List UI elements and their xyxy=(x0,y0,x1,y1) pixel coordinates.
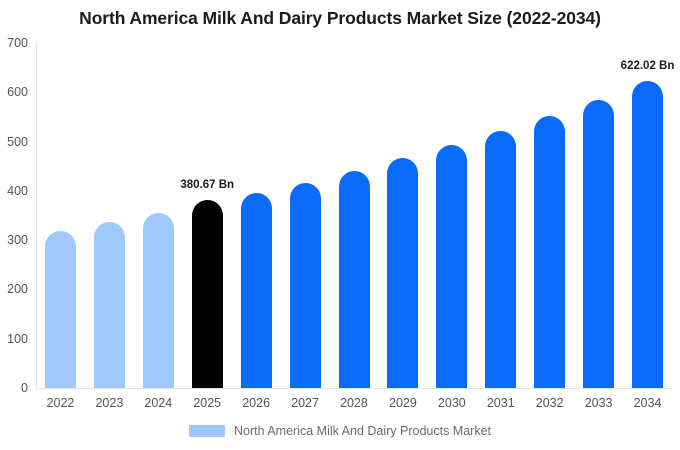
y-axis-tick-label: 100 xyxy=(7,332,36,346)
bar-series: 380.67 Bn622.02 Bn xyxy=(36,43,672,388)
x-axis-tick-2023: 2023 xyxy=(85,396,134,410)
bar-2025[interactable] xyxy=(192,200,223,388)
y-axis-tick-label: 200 xyxy=(7,282,36,296)
bar-group[interactable] xyxy=(583,43,614,388)
x-axis-tick-2032: 2032 xyxy=(525,396,574,410)
bar-group[interactable] xyxy=(45,43,76,388)
x-axis-tick-2026: 2026 xyxy=(232,396,281,410)
bar-2032[interactable] xyxy=(534,116,565,388)
legend-label: North America Milk And Dairy Products Ma… xyxy=(234,424,491,438)
x-axis-line xyxy=(36,388,672,389)
bar-2033[interactable] xyxy=(583,100,614,388)
bar-group[interactable]: 622.02 Bn xyxy=(632,43,663,388)
x-axis-tick-2031: 2031 xyxy=(476,396,525,410)
x-axis-tick-2024: 2024 xyxy=(134,396,183,410)
bar-value-label-2034: 622.02 Bn xyxy=(621,60,675,72)
bar-2026[interactable] xyxy=(241,193,272,388)
y-axis-tick-label: 700 xyxy=(7,36,36,50)
y-axis-tick-label: 0 xyxy=(21,381,36,395)
bar-group[interactable] xyxy=(241,43,272,388)
plot-area: 0100200300400500600700 380.67 Bn622.02 B… xyxy=(36,43,672,388)
bar-2030[interactable] xyxy=(436,145,467,388)
x-axis-tick-2022: 2022 xyxy=(36,396,85,410)
chart-title: North America Milk And Dairy Products Ma… xyxy=(0,8,680,29)
x-axis-tick-2034: 2034 xyxy=(623,396,672,410)
chart-container: North America Milk And Dairy Products Ma… xyxy=(0,0,680,450)
bar-group[interactable] xyxy=(143,43,174,388)
bar-2028[interactable] xyxy=(339,171,370,388)
bar-2027[interactable] xyxy=(290,183,321,388)
bar-2022[interactable] xyxy=(45,231,76,388)
bar-2024[interactable] xyxy=(143,213,174,388)
x-axis-tick-2025: 2025 xyxy=(183,396,232,410)
x-axis-tick-2033: 2033 xyxy=(574,396,623,410)
bar-group[interactable] xyxy=(534,43,565,388)
y-axis-tick-label: 400 xyxy=(7,184,36,198)
y-axis-tick-label: 500 xyxy=(7,135,36,149)
chart-legend: North America Milk And Dairy Products Ma… xyxy=(0,424,680,438)
bar-value-label-2025: 380.67 Bn xyxy=(180,179,234,191)
bar-group[interactable] xyxy=(94,43,125,388)
y-axis-tick-label: 600 xyxy=(7,85,36,99)
bar-2034[interactable] xyxy=(632,81,663,388)
bar-group[interactable]: 380.67 Bn xyxy=(192,43,223,388)
x-axis-tick-2027: 2027 xyxy=(281,396,330,410)
bar-group[interactable] xyxy=(485,43,516,388)
bar-group[interactable] xyxy=(339,43,370,388)
bar-2031[interactable] xyxy=(485,131,516,388)
bar-group[interactable] xyxy=(436,43,467,388)
y-axis-tick-label: 300 xyxy=(7,233,36,247)
x-axis-tick-2030: 2030 xyxy=(427,396,476,410)
x-axis-tick-2029: 2029 xyxy=(378,396,427,410)
bar-2023[interactable] xyxy=(94,222,125,388)
legend-swatch-icon xyxy=(189,425,225,437)
bar-group[interactable] xyxy=(387,43,418,388)
bar-2029[interactable] xyxy=(387,158,418,388)
x-axis-tick-2028: 2028 xyxy=(330,396,379,410)
bar-group[interactable] xyxy=(290,43,321,388)
